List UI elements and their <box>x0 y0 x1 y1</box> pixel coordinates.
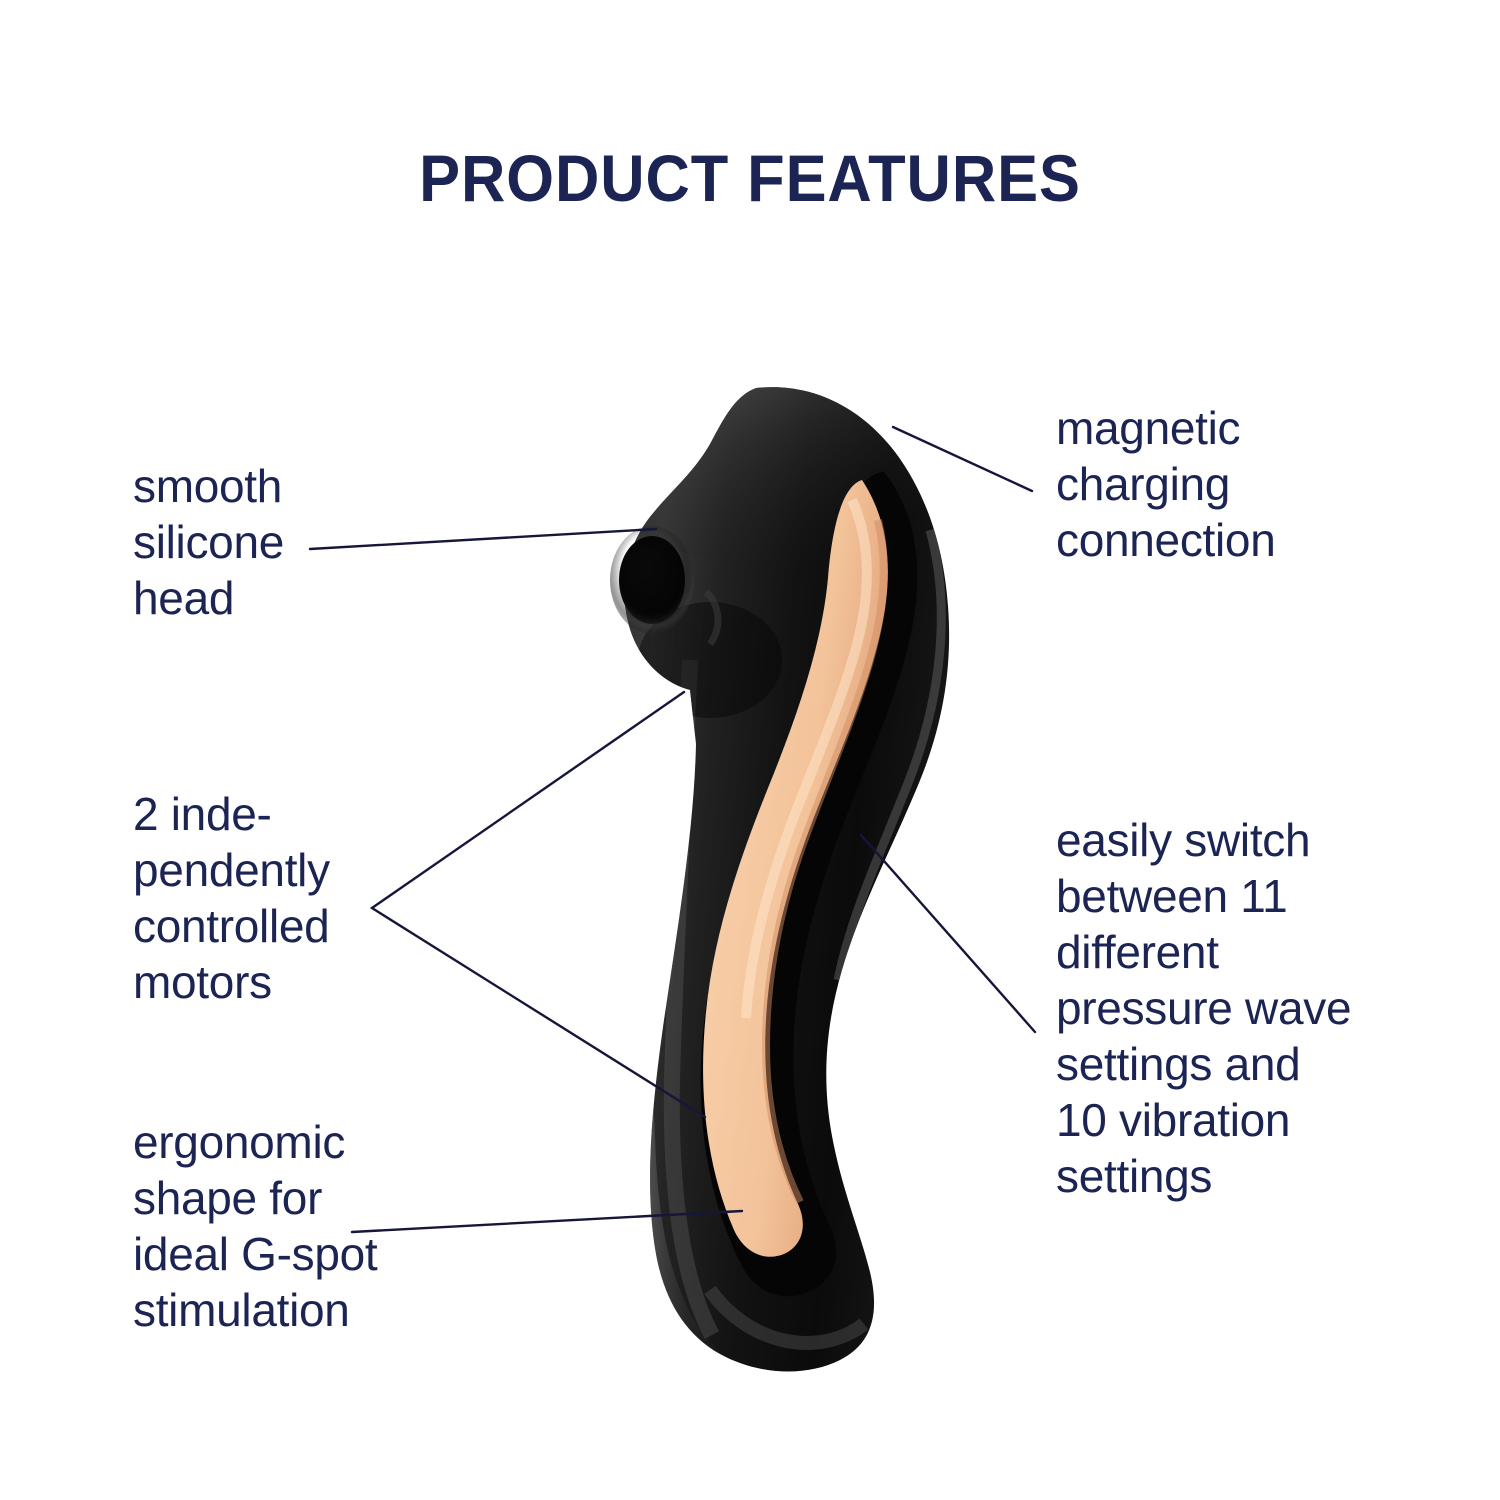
product-features-infographic: PRODUCT FEATURES <box>0 0 1500 1500</box>
nozzle-opening <box>610 526 694 634</box>
callout-ergonomic-shape: ergonomic shape for ideal G-spot stimula… <box>133 1114 463 1338</box>
callout-smooth-silicone-head: smooth silicone head <box>133 458 433 626</box>
page-title: PRODUCT FEATURES <box>53 140 1448 216</box>
callout-magnetic-charging-connection: magnetic charging connection <box>1056 400 1396 568</box>
product-illustration <box>560 360 1000 1380</box>
callout-two-independently-controlled-motors: 2 inde- pendently controlled motors <box>133 786 463 1010</box>
nozzle-hole-ring <box>610 526 694 634</box>
callout-pressure-and-vibration-settings: easily switch between 11 different press… <box>1056 812 1396 1204</box>
